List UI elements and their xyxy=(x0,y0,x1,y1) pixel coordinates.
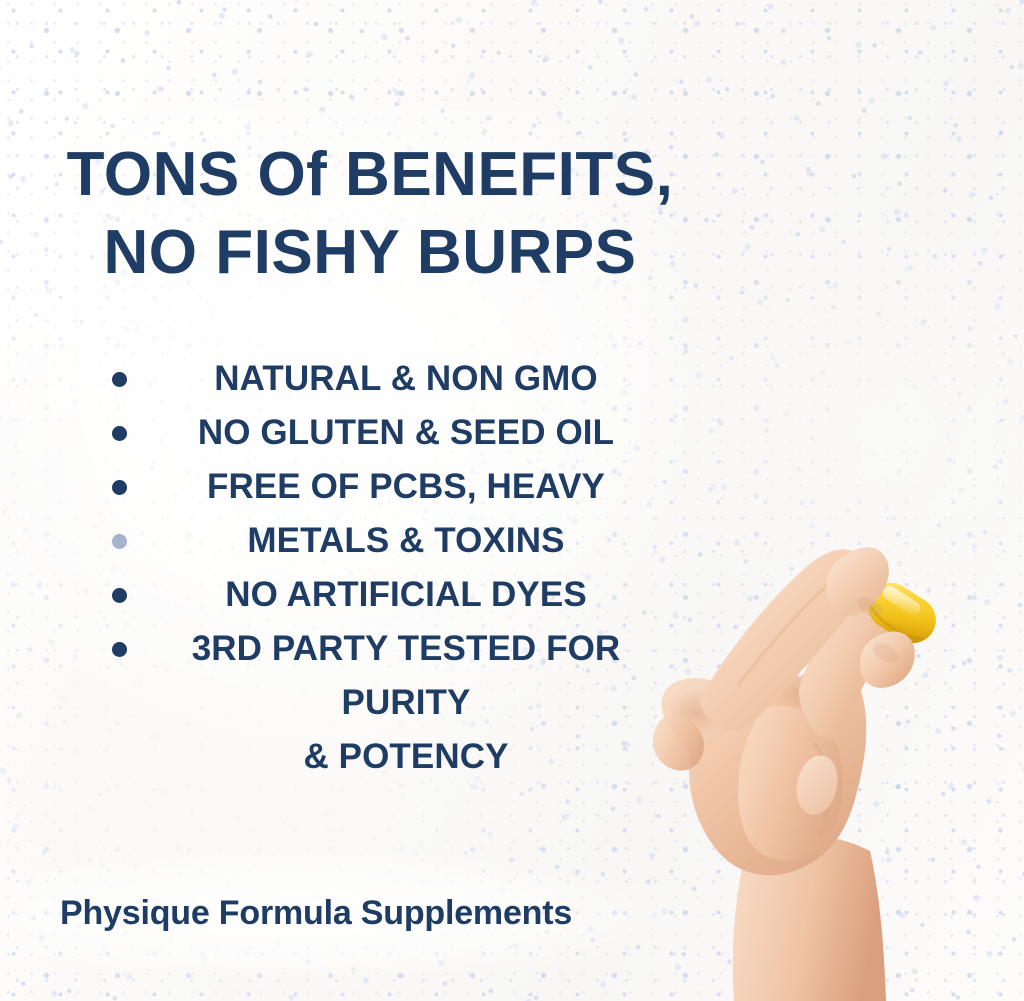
bullet-dot-icon xyxy=(112,480,127,495)
headline-line-1: TONS Of BENEFITS, xyxy=(40,136,700,214)
promo-poster: TONS Of BENEFITS, NO FISHY BURPS NATURAL… xyxy=(0,0,1024,1001)
benefit-label: NO GLUTEN & SEED OIL xyxy=(112,406,678,460)
benefit-label: METALS & TOXINS xyxy=(112,514,678,568)
bullet-dot-icon xyxy=(112,372,127,387)
brand-name: Physique Formula Supplements xyxy=(60,892,572,934)
benefit-label: 3RD PARTY TESTED FOR PURITY xyxy=(112,622,678,730)
bullet-dot-icon xyxy=(112,588,127,603)
benefit-item: NO GLUTEN & SEED OIL xyxy=(112,406,678,460)
benefit-item: NATURAL & NON GMO xyxy=(112,352,678,406)
benefit-item-continuation: METALS & TOXINS xyxy=(112,514,678,568)
headline: TONS Of BENEFITS, NO FISHY BURPS xyxy=(40,136,700,292)
benefits-list: NATURAL & NON GMO NO GLUTEN & SEED OIL F… xyxy=(112,352,678,784)
bullet-dot-icon xyxy=(112,642,127,657)
benefit-item: FREE OF PCBS, HEAVY xyxy=(112,460,678,514)
bullet-dot-icon xyxy=(112,426,127,441)
benefit-label: & POTENCY xyxy=(112,730,678,784)
benefit-item: NO ARTIFICIAL DYES xyxy=(112,568,678,622)
headline-line-2: NO FISHY BURPS xyxy=(40,214,700,292)
bullet-dot-icon-faded xyxy=(112,534,127,549)
benefit-label: NO ARTIFICIAL DYES xyxy=(112,568,678,622)
benefit-label: NATURAL & NON GMO xyxy=(112,352,678,406)
benefit-item-continuation: & POTENCY xyxy=(112,730,678,784)
benefit-item: 3RD PARTY TESTED FOR PURITY xyxy=(112,622,678,730)
benefit-label: FREE OF PCBS, HEAVY xyxy=(112,460,678,514)
